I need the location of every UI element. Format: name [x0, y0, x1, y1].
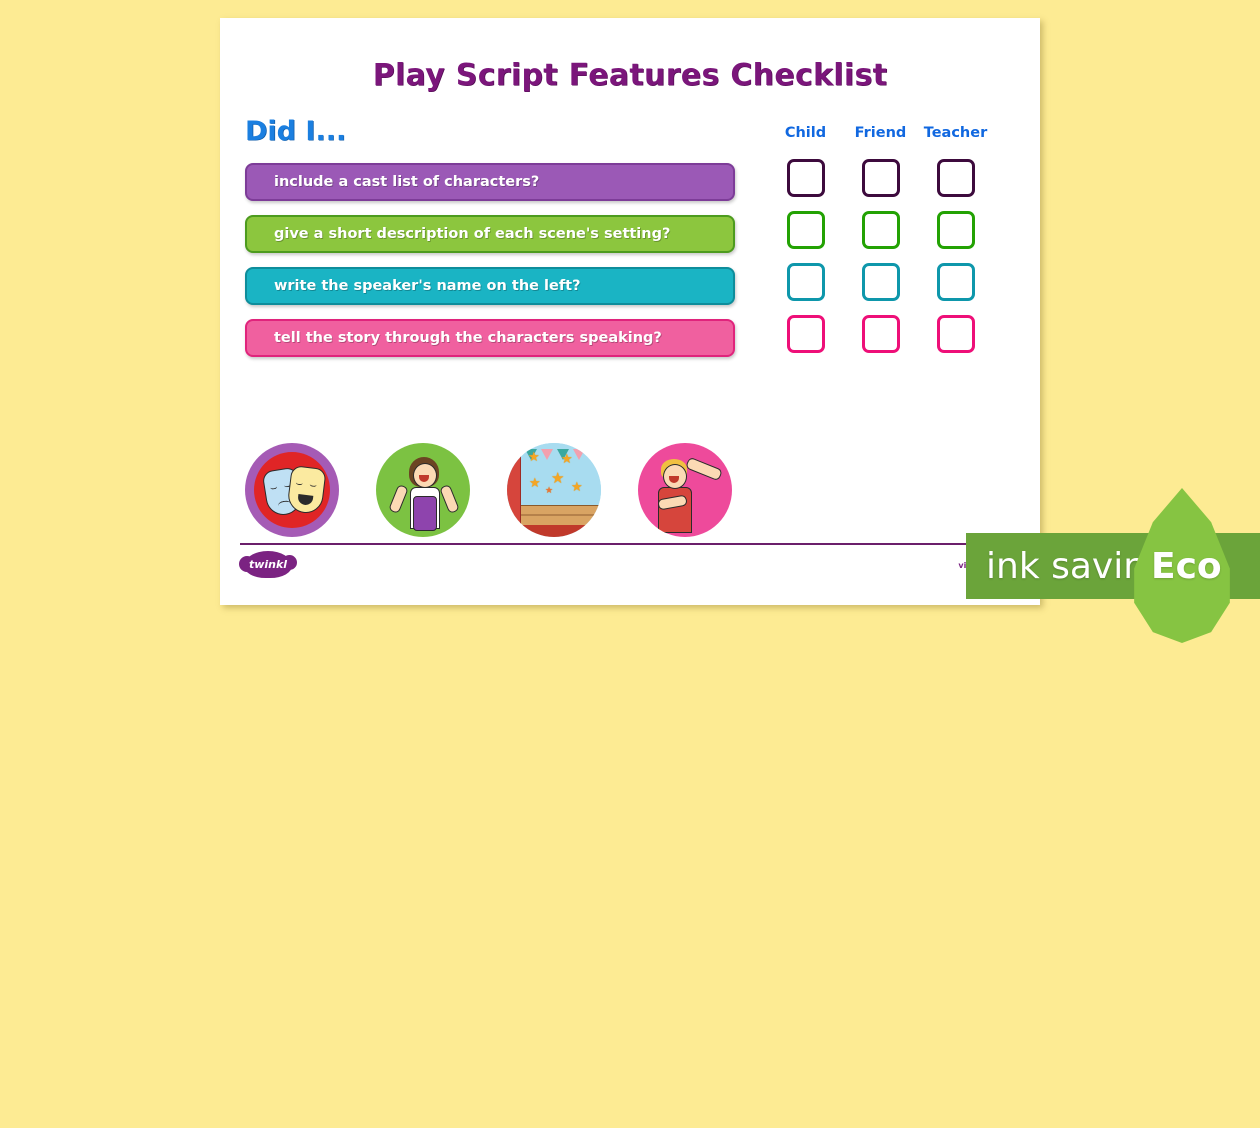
checklist-item-bar: tell the story through the characters sp… — [245, 319, 735, 357]
column-headers: Child Friend Teacher — [768, 125, 993, 141]
checklist-row: include a cast list of characters? — [220, 163, 1040, 215]
illustration-strip: ★ ★ ★ ★ ★ ★ — [240, 443, 740, 543]
checkbox-teacher[interactable] — [937, 315, 975, 353]
checkbox-child[interactable] — [787, 315, 825, 353]
checkbox-cell-friend — [843, 315, 918, 353]
checkbox-group — [768, 159, 993, 197]
footer-divider — [240, 543, 1020, 545]
checkbox-cell-friend — [843, 159, 918, 197]
checkbox-cell-child — [768, 159, 843, 197]
girl-acting-icon — [376, 443, 470, 537]
checklist-item-bar: write the speaker's name on the left? — [245, 267, 735, 305]
checkbox-cell-teacher — [918, 263, 993, 301]
checkbox-group — [768, 263, 993, 301]
checkbox-cell-child — [768, 315, 843, 353]
checkbox-friend[interactable] — [862, 159, 900, 197]
twinkl-logo-text: twinkl — [249, 558, 287, 571]
checkbox-child[interactable] — [787, 263, 825, 301]
checklist-item-bar: include a cast list of characters? — [245, 163, 735, 201]
checklist-row: tell the story through the characters sp… — [220, 319, 1040, 371]
checklist-rows: include a cast list of characters? give … — [220, 163, 1040, 371]
checkbox-cell-friend — [843, 211, 918, 249]
checkbox-friend[interactable] — [862, 263, 900, 301]
checklist-item-label: write the speaker's name on the left? — [274, 278, 580, 294]
checkbox-friend[interactable] — [862, 315, 900, 353]
checkbox-cell-teacher — [918, 315, 993, 353]
checkbox-cell-friend — [843, 263, 918, 301]
checkbox-cell-child — [768, 211, 843, 249]
checkbox-group — [768, 315, 993, 353]
stage-icon: ★ ★ ★ ★ ★ ★ — [507, 443, 601, 537]
page-title: Play Script Features Checklist — [220, 58, 1040, 93]
checkbox-cell-teacher — [918, 159, 993, 197]
column-header-child: Child — [768, 125, 843, 141]
theatre-masks-icon — [245, 443, 339, 537]
section-heading: Did I... — [245, 116, 346, 147]
checkbox-teacher[interactable] — [937, 211, 975, 249]
checkbox-teacher[interactable] — [937, 159, 975, 197]
worksheet-page: Play Script Features Checklist Did I... … — [220, 18, 1040, 605]
checkbox-friend[interactable] — [862, 211, 900, 249]
checkbox-cell-teacher — [918, 211, 993, 249]
checklist-row: write the speaker's name on the left? — [220, 267, 1040, 319]
boy-acting-icon — [638, 443, 732, 537]
eco-label: Eco — [1151, 546, 1222, 587]
twinkl-logo[interactable]: twinkl — [244, 551, 292, 578]
checkbox-teacher[interactable] — [937, 263, 975, 301]
checklist-item-label: give a short description of each scene's… — [274, 226, 670, 242]
column-header-friend: Friend — [843, 125, 918, 141]
checkbox-group — [768, 211, 993, 249]
checklist-item-label: include a cast list of characters? — [274, 174, 539, 190]
checklist-item-label: tell the story through the characters sp… — [274, 330, 662, 346]
checklist-item-bar: give a short description of each scene's… — [245, 215, 735, 253]
checklist-row: give a short description of each scene's… — [220, 215, 1040, 267]
checkbox-cell-child — [768, 263, 843, 301]
checkbox-child[interactable] — [787, 159, 825, 197]
column-header-teacher: Teacher — [918, 125, 993, 141]
eco-badge: ink saving Eco — [966, 533, 1260, 599]
checkbox-child[interactable] — [787, 211, 825, 249]
